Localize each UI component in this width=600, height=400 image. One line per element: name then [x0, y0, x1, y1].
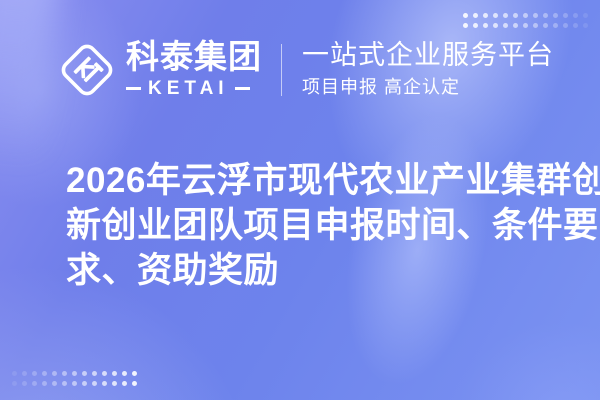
tagline-sub: 项目申报 高企认定	[302, 76, 554, 99]
ketai-kt-monogram-icon	[58, 41, 116, 99]
background-blob-bottom-right	[430, 300, 600, 400]
dot-icon	[92, 371, 97, 376]
brand-dash-right-icon	[235, 87, 250, 90]
dot-grid-row	[12, 371, 137, 376]
dot-icon	[62, 381, 67, 386]
dot-icon	[12, 381, 17, 386]
dot-icon	[102, 371, 107, 376]
header-tagline: 一站式企业服务平台 项目申报 高企认定	[302, 40, 554, 99]
dot-icon	[112, 371, 117, 376]
dot-icon	[62, 371, 67, 376]
promotional-banner: 科泰集团 KETAI 一站式企业服务平台 项目申报 高企认定 2026年云浮市现…	[0, 0, 600, 400]
dot-icon	[22, 371, 27, 376]
tagline-main: 一站式企业服务平台	[302, 40, 554, 72]
dot-icon	[82, 371, 87, 376]
banner-title-line: 求、资助奖励	[66, 248, 586, 293]
dot-icon	[72, 381, 77, 386]
dot-icon	[132, 381, 137, 386]
dot-icon	[82, 381, 87, 386]
dot-grid-row	[12, 381, 137, 386]
banner-header: 科泰集团 KETAI 一站式企业服务平台 项目申报 高企认定	[0, 0, 600, 140]
banner-title-line: 新创业团队项目申报时间、条件要	[66, 203, 586, 248]
dot-icon	[32, 381, 37, 386]
dot-grid-bottom-left	[12, 371, 137, 386]
brand-text: 科泰集团 KETAI	[126, 40, 262, 100]
dot-icon	[112, 381, 117, 386]
banner-title: 2026年云浮市现代农业产业集群创新创业团队项目申报时间、条件要求、资助奖励	[66, 158, 586, 293]
dot-icon	[122, 381, 127, 386]
brand-name-en: KETAI	[141, 78, 235, 100]
dot-icon	[132, 371, 137, 376]
dot-icon	[32, 371, 37, 376]
dot-icon	[102, 381, 107, 386]
header-divider	[281, 44, 282, 96]
dot-icon	[42, 381, 47, 386]
dot-icon	[92, 381, 97, 386]
dot-icon	[52, 371, 57, 376]
brand-lockup[interactable]: 科泰集团 KETAI	[58, 40, 262, 100]
banner-title-line: 2026年云浮市现代农业产业集群创	[66, 158, 586, 203]
brand-name-cn: 科泰集团	[126, 40, 262, 75]
dot-icon	[42, 371, 47, 376]
dot-icon	[22, 381, 27, 386]
dot-icon	[122, 371, 127, 376]
brand-dash-left-icon	[126, 87, 141, 90]
brand-name-en-row: KETAI	[126, 78, 262, 100]
dot-icon	[52, 381, 57, 386]
dot-icon	[12, 371, 17, 376]
dot-icon	[72, 371, 77, 376]
